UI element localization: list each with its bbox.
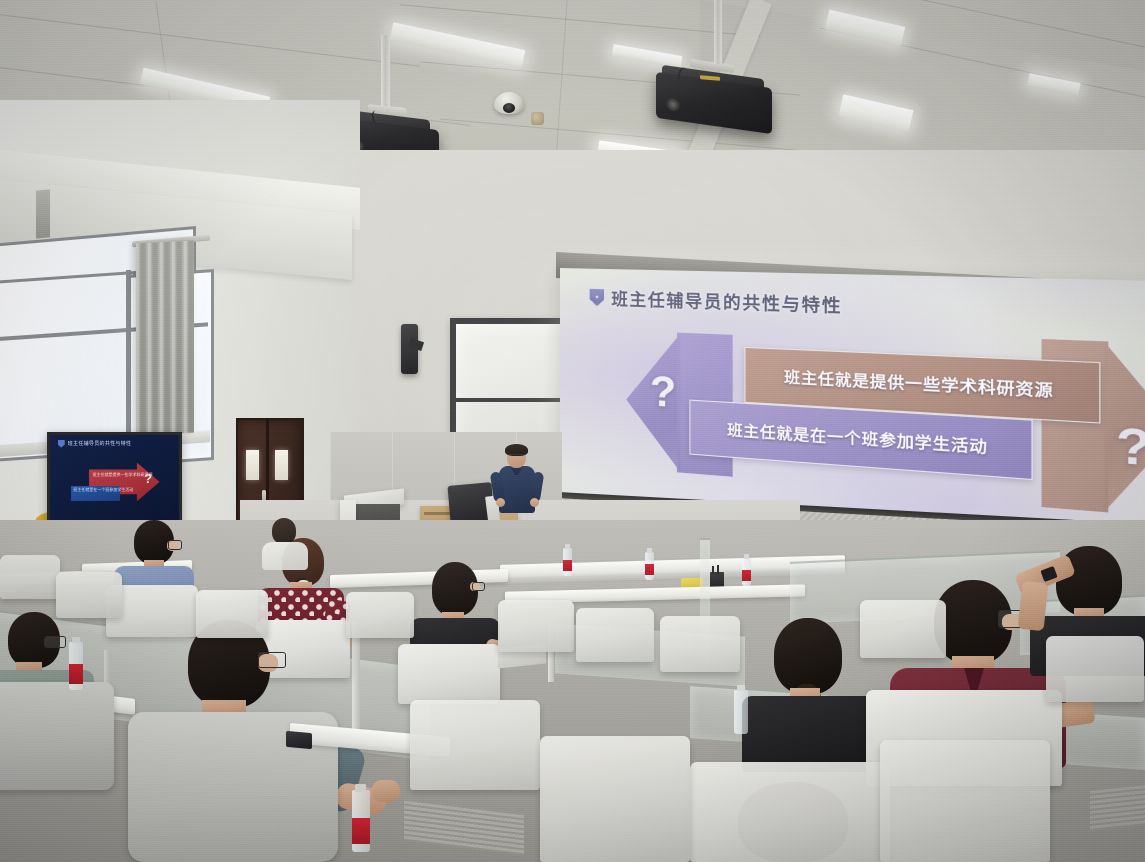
chair [540,736,690,862]
dome-camera-lens [503,103,515,113]
chair [660,616,740,672]
projector-mount-pole [381,35,390,110]
chair [576,608,654,662]
presenter-hand-right [530,498,539,507]
bottle-label [742,570,751,581]
chair [196,590,268,638]
bottle-label [69,664,83,684]
glasses [44,636,66,648]
chair [498,600,574,652]
bottle-cap [355,784,366,792]
presenter-hand-left [496,498,505,507]
door-glass-panel [246,450,259,480]
chair [398,644,500,704]
wall-monitor-title-row: 班主任辅导员的共性与特性 [58,440,132,448]
chair [690,762,890,862]
hand-right [372,780,400,802]
glasses [168,540,182,550]
chair [860,600,946,658]
lecture-hall-photo: 班主任辅导员的共性与特性 班主任就是提供一些学术科研资源 班主任就是在一个班参加… [0,0,1145,862]
floor-grating [1090,785,1145,831]
bottle-label [563,560,572,571]
slide-title-row: ✦ 班主任辅导员的共性与特性 [590,285,843,318]
wall-monitor[interactable]: 班主任辅导员的共性与特性 班主任就是提供一些学术科研资源 班主任就是在一个班参加… [47,432,182,530]
water-bottle [734,690,748,734]
bottle-cap [647,548,652,553]
bottle-cap [744,554,749,559]
smartphone[interactable] [286,731,312,749]
pen [712,566,714,574]
presenter [494,446,540,524]
chair [56,572,122,618]
wall-monitor-title: 班主任辅导员的共性与特性 [68,440,132,447]
chair [346,592,414,638]
chair [410,700,540,790]
slide-bar-bottom-text: 班主任就是在一个班参加学生活动 [727,419,988,459]
head [774,618,842,694]
curtain [136,240,194,435]
chair [1046,636,1144,702]
bottle-label [352,818,370,844]
forearm [1018,581,1049,631]
question-mark-right: ? [1116,421,1145,475]
attendee-black-tee [748,618,878,768]
bottle-cap [72,637,80,643]
bottle-cap [737,685,745,691]
attendee-white-shirt [262,518,312,570]
chair [0,682,114,790]
question-mark-left: ? [650,370,676,415]
bottle-cap [565,544,570,549]
chair [0,555,60,599]
glasses [472,582,485,591]
chair [880,740,1050,862]
slide-title: 班主任辅导员的共性与特性 [611,286,842,318]
projector-mount-pole [714,0,722,64]
pen [717,565,719,574]
slide-badge-icon: ✦ [590,289,605,307]
wall-monitor-bar-text: 班主任就是在一个班参加学生活动 [73,487,133,493]
wall-monitor-badge-icon [58,440,65,448]
window-post [36,189,50,238]
torso [262,542,308,570]
wall-monitor-question-mark: ? [144,472,152,485]
presenter-glasses [508,454,525,459]
slide-bar-top-text: 班主任就是提供一些学术科研资源 [784,365,1053,402]
bottle-label [645,564,654,575]
head [272,518,296,544]
door-glass-panel [275,450,288,480]
glasses [258,652,286,668]
smoke-detector-icon [531,112,544,125]
